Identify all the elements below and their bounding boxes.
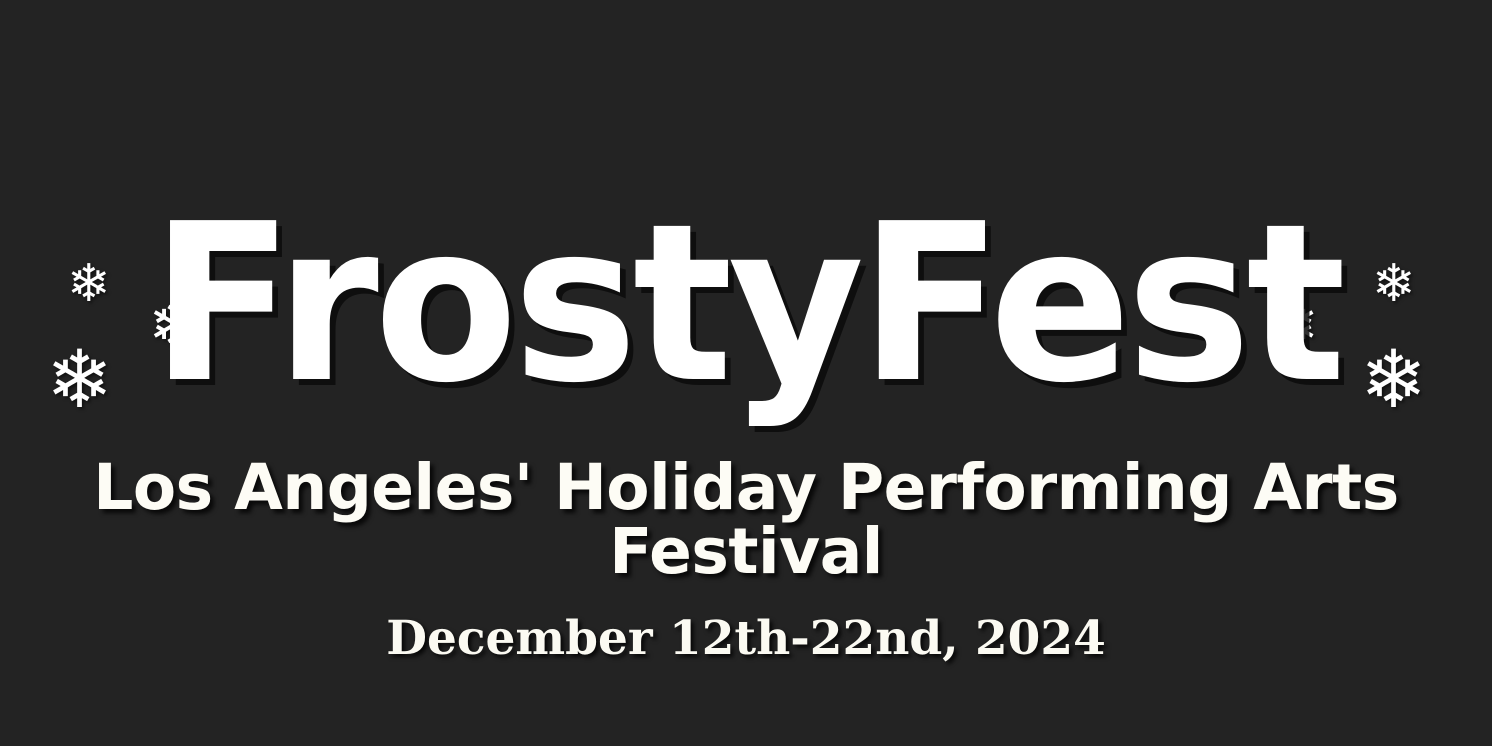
hero-text-block: FrostyFest Los Angeles' Holiday Performi… [0,0,1492,746]
festival-dates: December 12th-22nd, 2024 [386,613,1106,665]
festival-tagline: Los Angeles' Holiday Performing Arts Fes… [81,456,1411,585]
page-title: FrostyFest [151,196,1342,414]
festival-hero-banner: ❄ ❄ ❄ ❄ ❄ ❄ FrostyFest Los Angeles' Holi… [0,0,1492,746]
